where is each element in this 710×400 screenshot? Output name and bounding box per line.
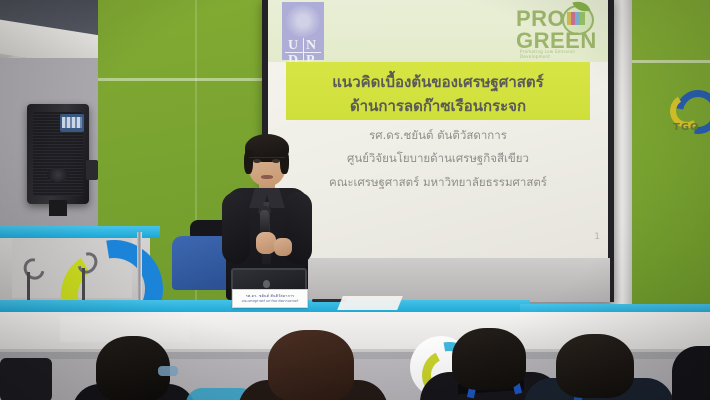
tgo-logo: TGO	[668, 90, 708, 138]
presenter-eye-left	[253, 159, 261, 163]
presentation-slide: U N D P PRO GREEN Promoting Low Emission…	[268, 0, 608, 250]
undp-letter-u: U	[288, 39, 298, 53]
pa-speaker-panel-labels	[62, 117, 82, 128]
slide-title-block: แนวคิดเบื้องต้นของเศรษฐศาสตร์ ด้านการลดก…	[286, 62, 590, 120]
audience-member-1-glasses-icon	[158, 366, 178, 376]
wall-seam-right	[632, 60, 710, 63]
audience-member-5-body	[672, 346, 710, 400]
slide-title-line-1: แนวคิดเบื้องต้นของเศรษฐศาสตร์	[286, 70, 590, 94]
audience-member-4-head	[556, 334, 634, 398]
progreen-tagline: Promoting Low Emission Development	[520, 49, 602, 59]
chrome-post	[137, 232, 142, 304]
pa-speaker-bracket	[86, 160, 98, 180]
un-emblem-icon	[286, 5, 320, 37]
presenter-hand-right	[274, 238, 292, 256]
undp-letter-n: N	[306, 39, 316, 53]
presenter-eye-right	[272, 159, 280, 163]
pa-speaker-mount	[49, 200, 67, 216]
slide-title-line-2: ด้านการลดก๊าซเรือนกระจก	[286, 94, 590, 118]
slide-subtitle-line-3: คณะเศรษฐศาสตร์ มหาวิทยาลัยธรรมศาสตร์	[268, 174, 608, 192]
slide-page-number: 1	[594, 232, 600, 242]
paper-on-desk	[337, 296, 403, 310]
projection-screen-skirt	[266, 258, 610, 302]
presenter-arm-left	[222, 192, 250, 264]
tgo-logo-text: TGO	[673, 122, 700, 133]
undp-grid-line-vertical	[303, 38, 304, 62]
presenter-hand-holding-mic	[256, 232, 276, 254]
slide-subtitle-line-1: รศ.ดร.ชยันต์ ตันติวัสดาการ	[268, 127, 608, 145]
presentation-room-photo: TGO U N D P PRO GREEN Promoting Low Emis…	[0, 0, 710, 400]
name-placard-line-2: คณะเศรษฐศาสตร์ มหาวิทยาลัยธรรมศาสตร์	[233, 299, 307, 304]
laptop-brand-logo-icon	[263, 280, 270, 288]
wall-green-panel-right	[632, 0, 710, 336]
audience-member-3-head	[452, 328, 526, 390]
audience-member-2-head	[268, 330, 354, 400]
progreen-logo: PRO GREEN Promoting Low Emission Develop…	[516, 4, 602, 56]
audience-seat-left	[0, 358, 52, 400]
pa-speaker-cone	[47, 168, 69, 182]
name-placard: รศ.ดร. ชยันต์ ตันติวัสดาการ คณะเศรษฐศาสต…	[232, 289, 308, 308]
slide-subtitle-line-2: ศูนย์วิจัยนโยบายด้านเศรษฐกิจสีเขียว	[268, 150, 608, 168]
presenter-mouth	[261, 175, 273, 179]
left-counter-rail	[0, 226, 160, 238]
progreen-bars-icon	[567, 12, 585, 25]
undp-logo: U N D P	[282, 2, 324, 60]
